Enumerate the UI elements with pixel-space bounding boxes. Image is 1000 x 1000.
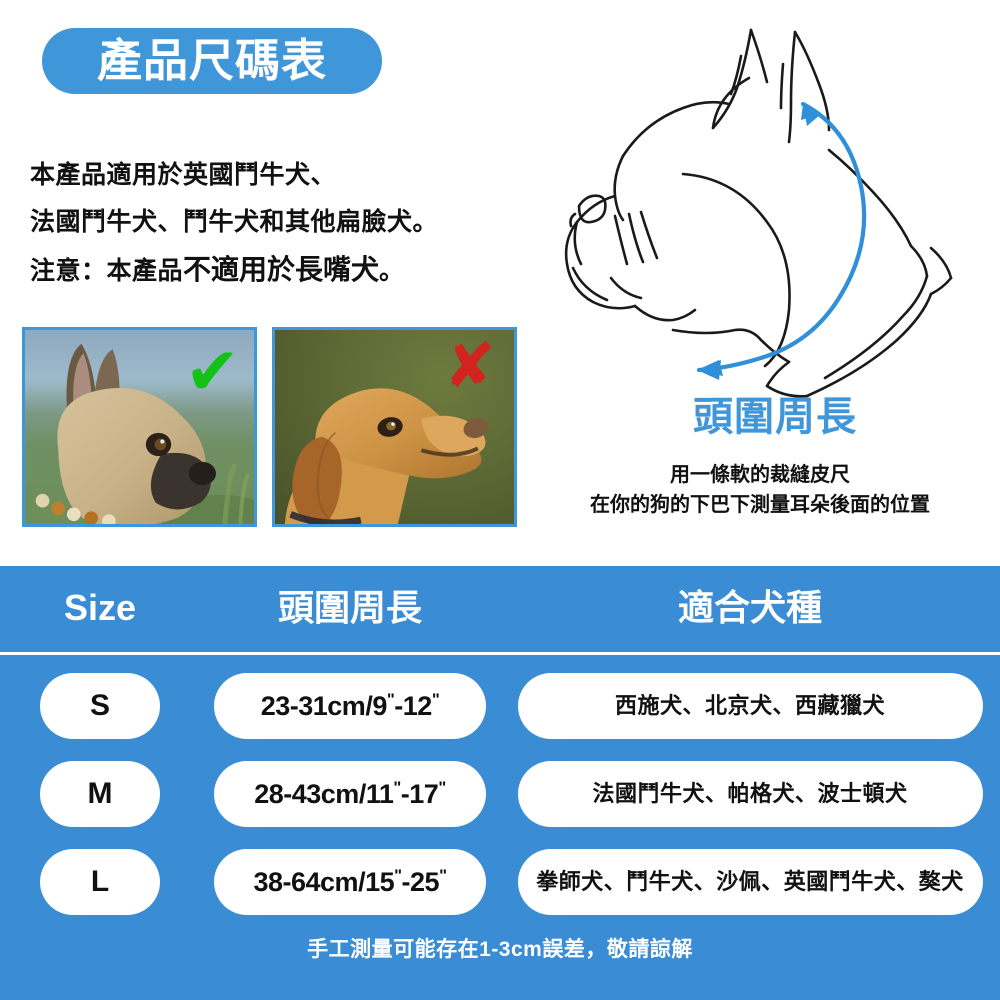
circ-mid-0: -12 (394, 691, 432, 721)
intro-line-3: 注意：本產品不適用於長嘴犬。 (30, 246, 550, 295)
intro-warning-emphasis: 不適用於長嘴犬 (183, 254, 379, 285)
diagram-heading: 頭圍周長 (555, 395, 995, 439)
size-chart-table: Size 頭圍周長 適合犬種 S 23-31cm/9"-12" 西施犬、北京犬、… (0, 566, 1000, 1000)
cell-circumference: 23-31cm/9"-12" (200, 673, 500, 739)
circ-unit-a-1: " (393, 778, 400, 797)
green-check-icon: ✔ (185, 338, 240, 404)
table-footnote: 手工測量可能存在1-3cm誤差，敬請諒解 (0, 933, 1000, 963)
table-header-divider (0, 652, 1000, 655)
size-value: S (90, 691, 110, 721)
circ-unit-b-2: " (439, 866, 446, 885)
cell-breeds: 西施犬、北京犬、西藏獵犬 (500, 673, 1000, 739)
circumference-value: 38-64cm/15"-25" (253, 869, 446, 896)
intro-line-3-prefix: 注意：本產品 (30, 257, 183, 285)
cell-circumference: 28-43cm/11"-17" (200, 761, 500, 827)
breeds-pill: 法國鬥牛犬、帕格犬、波士頓犬 (518, 761, 983, 827)
circ-main-2: 38-64cm/15 (253, 867, 394, 897)
photo-suitable-breed: ✔ (22, 327, 257, 527)
circ-unit-b-0: " (432, 690, 439, 709)
table-row: M 28-43cm/11"-17" 法國鬥牛犬、帕格犬、波士頓犬 (0, 759, 1000, 829)
cell-breeds: 拳師犬、鬥牛犬、沙佩、英國鬥牛犬、獒犬 (500, 849, 1000, 915)
diagram-description: 用一條軟的裁縫皮尺 在你的狗的下巴下測量耳朵後面的位置 (520, 460, 1000, 520)
table-row: S 23-31cm/9"-12" 西施犬、北京犬、西藏獵犬 (0, 671, 1000, 741)
red-cross-icon: ✘ (444, 336, 496, 398)
size-value: M (88, 779, 113, 809)
size-pill: M (40, 761, 160, 827)
page-title: 產品尺碼表 (97, 38, 327, 83)
page-title-badge: 產品尺碼表 (42, 28, 382, 94)
circumference-pill: 38-64cm/15"-25" (214, 849, 486, 915)
table-row: L 38-64cm/15"-25" 拳師犬、鬥牛犬、沙佩、英國鬥牛犬、獒犬 (0, 847, 1000, 917)
breeds-value: 法國鬥牛犬、帕格犬、波士頓犬 (592, 783, 907, 805)
intro-paragraph: 本產品適用於英國鬥牛犬、 法國鬥牛犬、鬥牛犬和其他扁臉犬。 注意：本產品不適用於… (30, 152, 550, 295)
top-info-section: 產品尺碼表 本產品適用於英國鬥牛犬、 法國鬥牛犬、鬥牛犬和其他扁臉犬。 注意：本… (0, 0, 1000, 560)
cell-circumference: 38-64cm/15"-25" (200, 849, 500, 915)
column-header-size: Size (0, 590, 200, 626)
size-value: L (91, 867, 109, 897)
circumference-pill: 23-31cm/9"-12" (214, 673, 486, 739)
diagram-desc-line-2: 在你的狗的下巴下測量耳朵後面的位置 (520, 490, 1000, 520)
cell-size: L (0, 849, 200, 915)
diagram-desc-line-1: 用一條軟的裁縫皮尺 (520, 460, 1000, 490)
circ-main-1: 28-43cm/11 (254, 779, 393, 809)
circumference-value: 28-43cm/11"-17" (254, 781, 446, 808)
breeds-pill: 西施犬、北京犬、西藏獵犬 (518, 673, 983, 739)
cell-size: S (0, 673, 200, 739)
circ-unit-a-2: " (394, 866, 401, 885)
circ-unit-b-1: " (438, 778, 445, 797)
cell-size: M (0, 761, 200, 827)
breeds-pill: 拳師犬、鬥牛犬、沙佩、英國鬥牛犬、獒犬 (518, 849, 983, 915)
circ-mid-1: -17 (401, 779, 439, 809)
size-pill: S (40, 673, 160, 739)
intro-line-2: 法國鬥牛犬、鬥牛犬和其他扁臉犬。 (30, 199, 550, 246)
intro-line-1: 本產品適用於英國鬥牛犬、 (30, 152, 550, 199)
cell-breeds: 法國鬥牛犬、帕格犬、波士頓犬 (500, 761, 1000, 827)
breeds-value: 拳師犬、鬥牛犬、沙佩、英國鬥牛犬、獒犬 (536, 871, 964, 893)
circ-mid-2: -25 (402, 867, 440, 897)
intro-line-3-suffix: 。 (379, 257, 405, 285)
circ-main-0: 23-31cm/9 (261, 691, 387, 721)
column-header-circumference: 頭圍周長 (200, 590, 500, 626)
size-pill: L (40, 849, 160, 915)
photo-unsuitable-breed: ✘ (272, 327, 517, 527)
circumference-pill: 28-43cm/11"-17" (214, 761, 486, 827)
column-header-breeds: 適合犬種 (500, 590, 1000, 626)
table-header-row: Size 頭圍周長 適合犬種 (0, 566, 1000, 650)
circumference-value: 23-31cm/9"-12" (261, 693, 440, 720)
breeds-value: 西施犬、北京犬、西藏獵犬 (615, 695, 885, 717)
head-circumference-diagram (555, 10, 995, 400)
